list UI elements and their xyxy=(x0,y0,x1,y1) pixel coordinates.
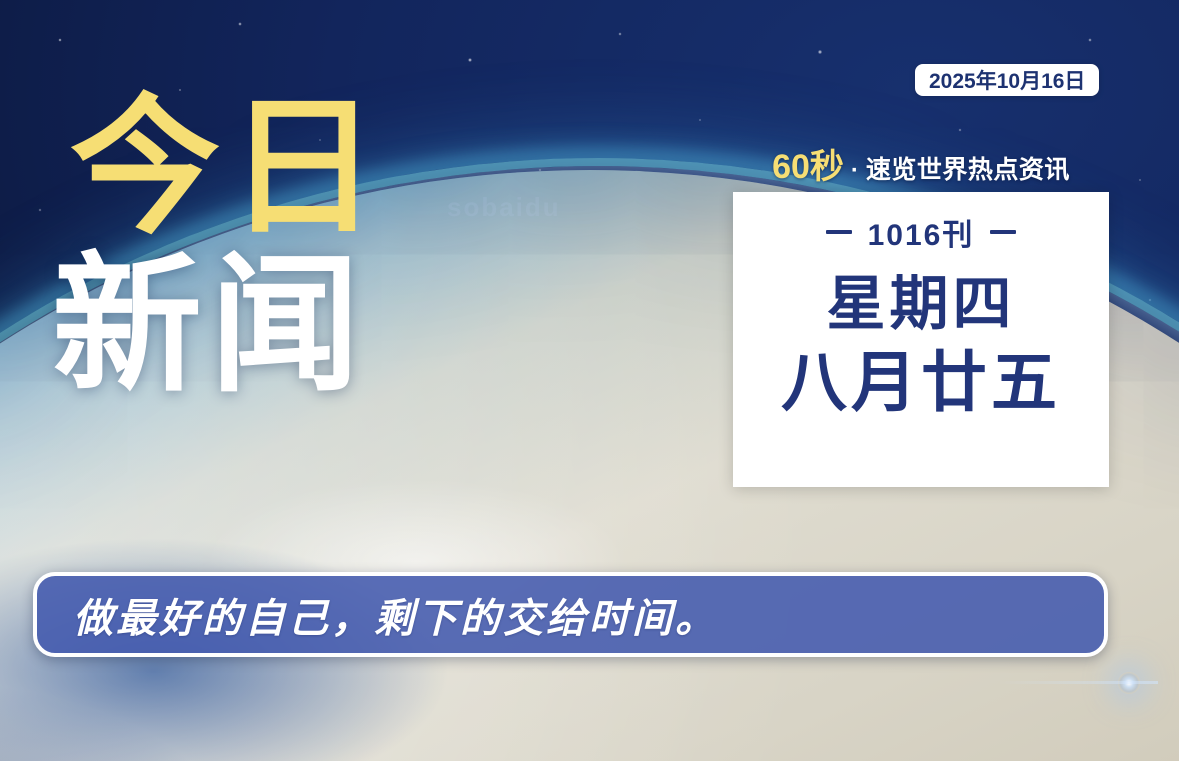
lens-flare-star xyxy=(1118,672,1140,694)
tagline-separator: · xyxy=(847,157,863,185)
issue-number-row: 1016刊 xyxy=(826,210,1017,254)
lunar-date-label: 八月廿五 xyxy=(781,348,1061,417)
date-info-card: 1016刊 星期四 八月廿五 xyxy=(733,192,1109,487)
tagline: 60秒 · 速览世界热点资讯 xyxy=(733,139,1109,188)
tagline-subtitle: 速览世界热点资讯 xyxy=(866,150,1070,186)
brand-title-line1: 今日 xyxy=(70,96,476,240)
tagline-seconds: 60秒 xyxy=(772,139,844,188)
date-badge: 2025年10月16日 xyxy=(915,64,1099,96)
dash-right-icon xyxy=(990,230,1016,234)
brand-title-line2: 新闻 xyxy=(52,254,476,398)
issue-number-label: 1016刊 xyxy=(868,210,975,254)
quote-banner: 做最好的自己，剩下的交给时间。 xyxy=(33,572,1108,657)
dash-left-icon xyxy=(826,230,852,234)
brand-title: 今日 新闻 xyxy=(56,96,476,398)
quote-text: 做最好的自己，剩下的交给时间。 xyxy=(73,586,718,644)
weekday-label: 星期四 xyxy=(826,274,1015,336)
news-poster: sobaidu 今日 新闻 2025年10月16日 60秒 · 速览世界热点资讯… xyxy=(0,0,1179,761)
